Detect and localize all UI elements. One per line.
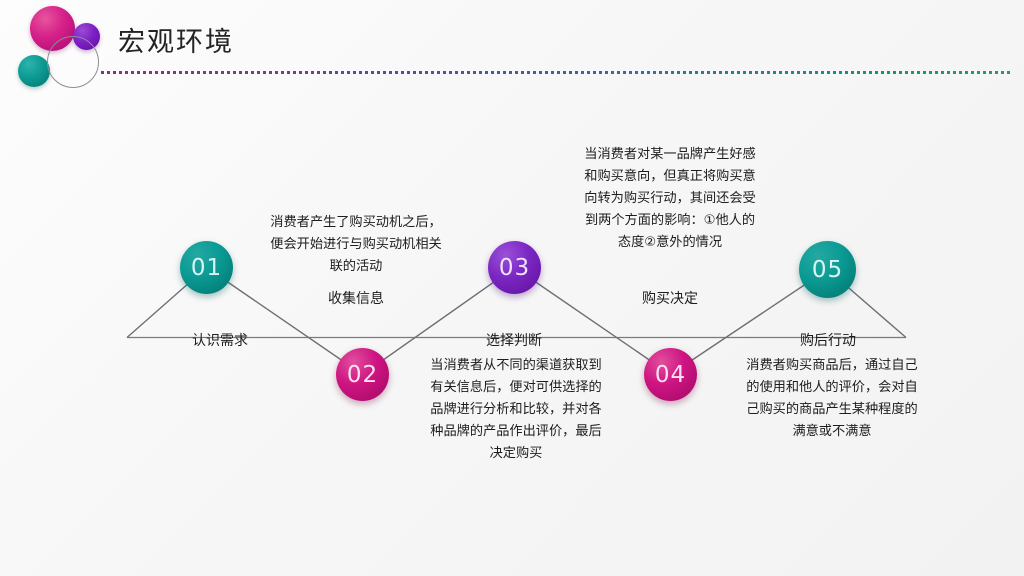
outline-ring-icon <box>47 36 99 88</box>
node-number-02: 02 <box>347 362 378 388</box>
node-marker-04[interactable]: 04 <box>644 348 697 401</box>
node-number-03: 03 <box>499 255 530 281</box>
node-marker-05[interactable]: 05 <box>799 241 856 298</box>
node-marker-01[interactable]: 01 <box>180 241 233 294</box>
node-marker-02[interactable]: 02 <box>336 348 389 401</box>
stage-description-3: 当消费者对某一品牌产生好感和购买意向，但真正将购买意向转为购买行动，其间还会受到… <box>582 143 758 253</box>
title-divider <box>101 71 1011 74</box>
stage-label-3: 选择判断 <box>444 330 584 350</box>
node-number-04: 04 <box>655 362 686 388</box>
node-number-01: 01 <box>191 255 222 281</box>
stage-description-4: 消费者购买商品后，通过自己的使用和他人的评价，会对自己购买的商品产生某种程度的满… <box>742 354 922 442</box>
teal-circle-icon <box>18 55 50 87</box>
stage-label-1: 认识需求 <box>160 330 280 350</box>
stage-description-2: 当消费者从不同的渠道获取到有关信息后，便对可供选择的品牌进行分析和比较，并对各种… <box>428 354 604 464</box>
stage-label-2: 收集信息 <box>266 288 446 308</box>
stage-description-1: 消费者产生了购买动机之后，便会开始进行与购买动机相关联的活动 <box>268 211 444 277</box>
node-marker-03[interactable]: 03 <box>488 241 541 294</box>
stage-label-5: 购后行动 <box>748 330 908 350</box>
node-number-05: 05 <box>812 257 843 283</box>
slide-canvas: 宏观环境 01 02 03 04 05 认识需求 收集信息 选择判断 购买决定 … <box>0 0 1024 576</box>
stage-label-4: 购买决定 <box>580 288 760 308</box>
page-title: 宏观环境 <box>118 29 234 56</box>
